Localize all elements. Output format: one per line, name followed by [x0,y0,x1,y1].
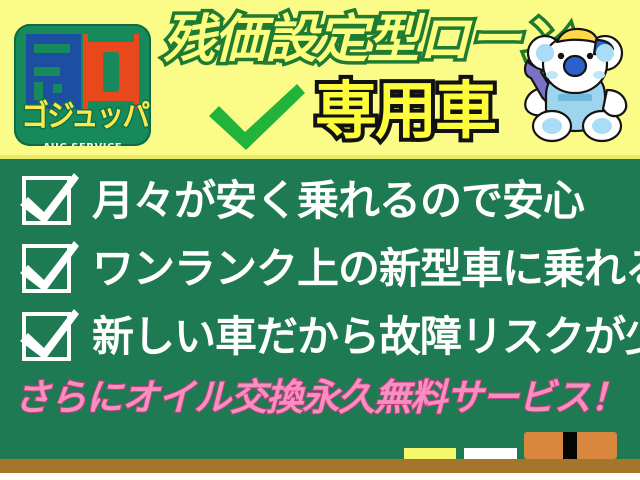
checkbox-checked-icon [18,308,80,366]
logo-digit-5-cut-bottom [53,84,62,93]
headline-secondary: 専用車 [315,80,495,142]
green-check-icon [205,82,309,154]
checkbox-checked-icon [18,172,80,230]
banner-header: ゴジュッパ AUC SERVICE 残価設定型ローン 専用車 [0,0,640,159]
logo-digit-0-hole [103,52,119,92]
list-item: ワンランク上の新型車に乗れる [0,238,640,300]
promo-banner: ゴジュッパ AUC SERVICE 残価設定型ローン 専用車 [0,0,640,480]
headline-primary: 残価設定型ローン [163,14,568,66]
logo-kana-text: ゴジュッパ [21,102,143,132]
list-item-label: 月々が安く乗れるので安心 [92,170,584,232]
promo-text: さらにオイル交換永久無料サービス！ [0,378,640,419]
logo-digits [26,34,139,109]
logo-digit-5-cut-top [34,44,70,53]
logo-digit-0-cut-top [88,34,134,42]
checkbox-checked-icon [18,240,80,298]
list-item: 月々が安く乗れるので安心 [0,170,640,232]
list-item: 新しい車だから故障リスクが少ない [0,306,640,368]
list-item-label: ワンランク上の新型車に乗れる [92,238,640,300]
gojuppa-logo: ゴジュッパ AUC SERVICE [14,24,151,146]
logo-digit-5-cut-lowleft [34,82,43,100]
swatch-black [563,432,577,459]
list-item-label: 新しい車だから故障リスクが少ない [92,306,640,368]
swatch-orange-left [524,432,563,459]
bottom-bar [0,459,640,473]
bottom-padding [0,473,640,480]
koala-mascot-icon [512,18,634,146]
logo-brand-subtext: AUC SERVICE [14,142,151,146]
swatch-orange-right [577,432,617,459]
swatch-white [464,448,517,459]
swatch-yellow [404,448,456,459]
logo-digit-5-cut-mid [34,67,60,76]
